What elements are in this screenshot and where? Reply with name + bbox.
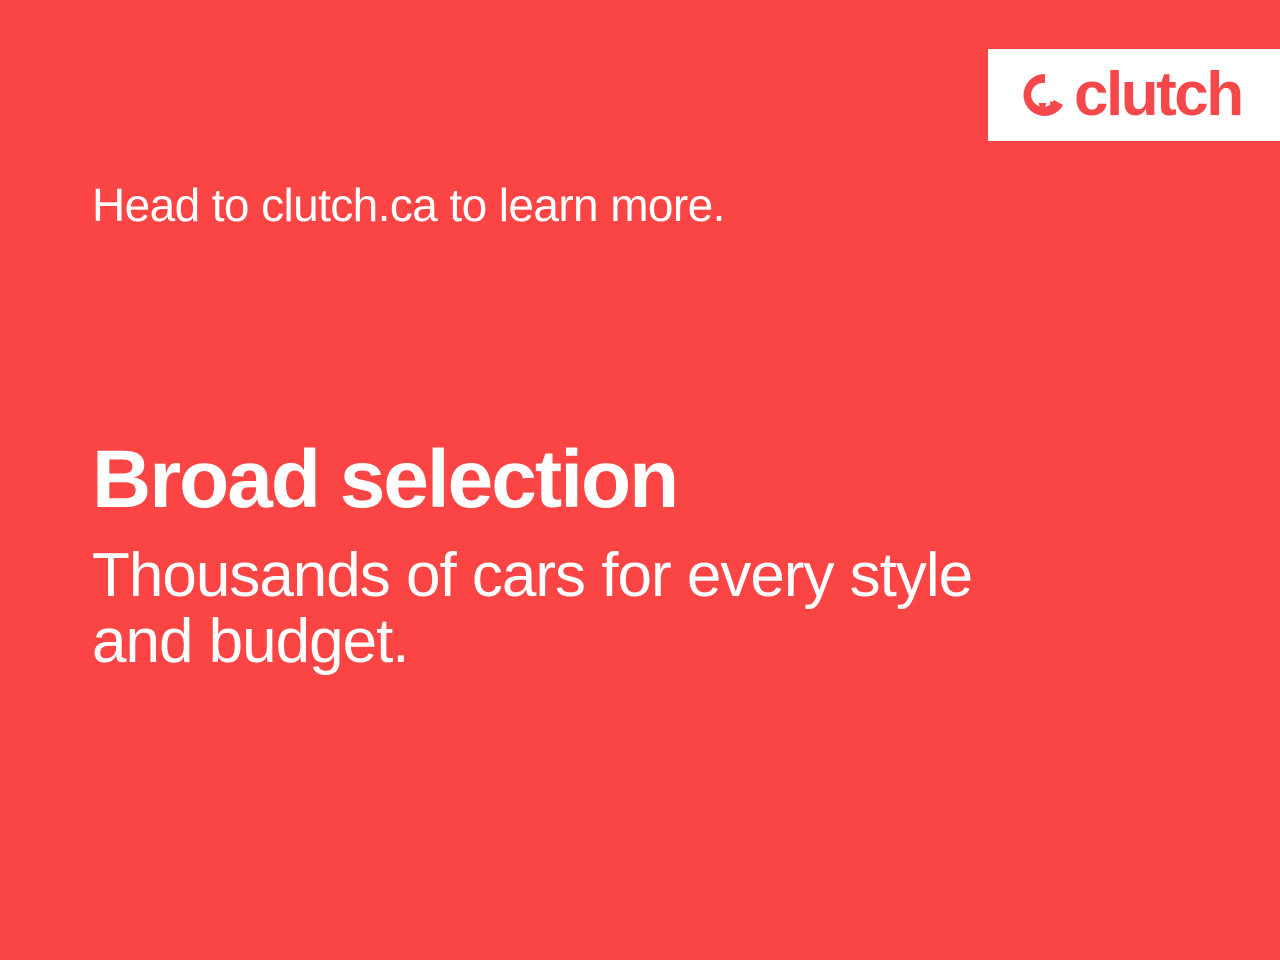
brand-logo-plate: clutch: [988, 49, 1280, 141]
clutch-wordmark: clutch: [1074, 64, 1242, 126]
eyebrow-text: Head to clutch.ca to learn more.: [92, 180, 725, 231]
clutch-c-mark-icon: [1020, 70, 1070, 120]
clutch-logo-lockup: clutch: [1020, 64, 1242, 126]
marketing-slide: clutch Head to clutch.ca to learn more. …: [0, 0, 1280, 960]
page-title: Broad selection: [92, 437, 677, 523]
subheading-line: Thousands of cars for every style: [92, 543, 1052, 609]
subheading-line: and budget.: [92, 609, 1052, 675]
subheading: Thousands of cars for every style and bu…: [92, 543, 1052, 674]
